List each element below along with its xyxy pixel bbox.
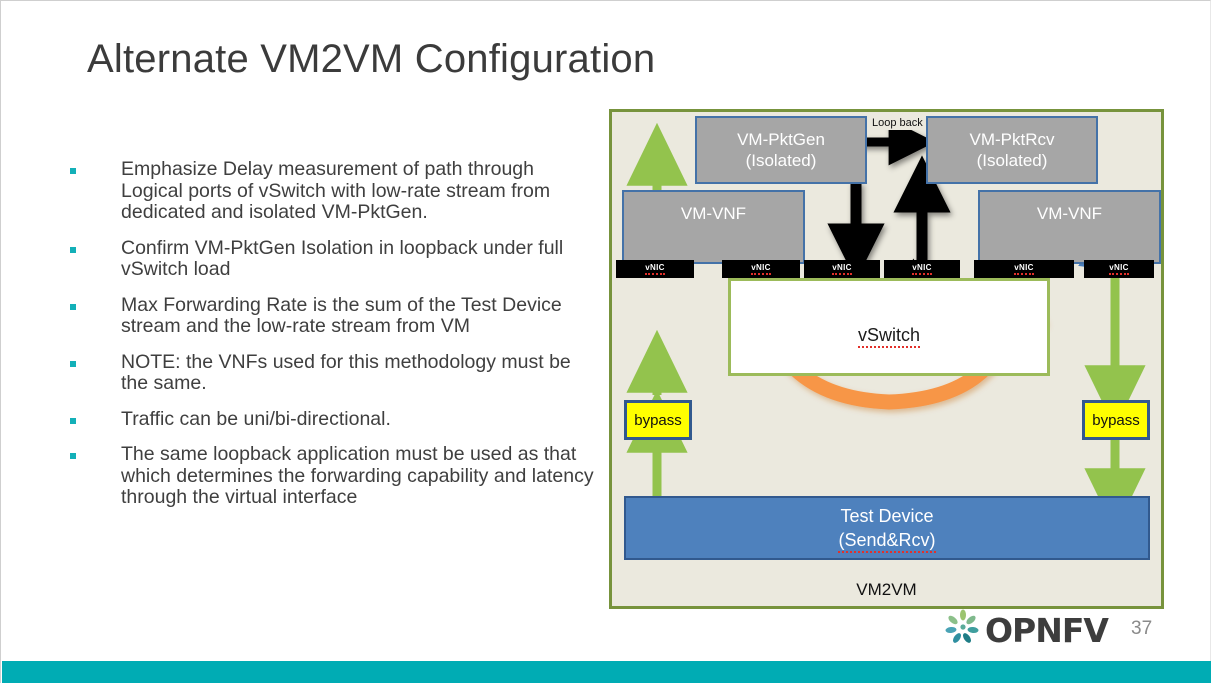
list-item: The same loopback application must be us… — [63, 444, 598, 509]
loop-back-label: Loop back — [870, 116, 925, 130]
vm-pktgen-name: VM-PktGen — [737, 129, 825, 150]
vm-vnf-left-name: VM-VNF — [681, 203, 746, 224]
bullet-text: Max Forwarding Rate is the sum of the Te… — [121, 294, 562, 338]
vswitch-box: vSwitch — [728, 278, 1050, 376]
slide: Alternate VM2VM Configuration Emphasize … — [0, 0, 1211, 683]
bullet-text: The same loopback application must be us… — [121, 443, 594, 508]
vm-pktgen-sub: (Isolated) — [746, 150, 817, 171]
bullet-text: Confirm VM-PktGen Isolation in loopback … — [121, 237, 563, 281]
test-device-sub: (Send&Rcv) — [838, 528, 935, 552]
vnic-4: vNIC — [884, 260, 960, 278]
bullet-marker-icon — [70, 361, 76, 367]
list-item: Emphasize Delay measurement of path thro… — [63, 159, 598, 224]
vm2vm-container-label: VM2VM — [612, 580, 1161, 600]
bullet-marker-icon — [70, 453, 76, 459]
test-device-box: Test Device (Send&Rcv) — [624, 496, 1150, 560]
opnfv-wordmark: OPNFV — [985, 611, 1108, 650]
vm-pktrcv-name: VM-PktRcv — [970, 129, 1055, 150]
vm-vnf-right-name: VM-VNF — [1037, 203, 1102, 224]
bullet-list: Emphasize Delay measurement of path thro… — [63, 159, 598, 523]
list-item: Max Forwarding Rate is the sum of the Te… — [63, 295, 598, 338]
vnic-1: vNIC — [616, 260, 694, 278]
bullet-marker-icon — [70, 168, 76, 174]
vnic-6: vNIC — [1084, 260, 1154, 278]
vm-vnf-right-box: VM-VNF — [978, 190, 1161, 264]
opnfv-logo: OPNFV — [945, 609, 1115, 647]
list-item: NOTE: the VNFs used for this methodology… — [63, 352, 598, 395]
vm-pktrcv-sub: (Isolated) — [977, 150, 1048, 171]
opnfv-flower-icon — [945, 609, 981, 647]
vnic-3: vNIC — [804, 260, 880, 278]
bullet-text: NOTE: the VNFs used for this methodology… — [121, 351, 571, 395]
vm-pktgen-box: VM-PktGen (Isolated) — [695, 116, 867, 184]
bullet-marker-icon — [70, 304, 76, 310]
vnic-5: vNIC — [974, 260, 1074, 278]
vm2vm-diagram: VM-PktGen (Isolated) VM-PktRcv (Isolated… — [609, 109, 1164, 609]
page-title: Alternate VM2VM Configuration — [87, 37, 655, 82]
page-number: 37 — [1131, 618, 1152, 640]
bullet-marker-icon — [70, 247, 76, 253]
footer-accent-bar — [2, 661, 1211, 683]
bullet-text: Emphasize Delay measurement of path thro… — [121, 158, 550, 223]
list-item: Traffic can be uni/bi-directional. — [63, 409, 598, 431]
vm-vnf-left-box: VM-VNF — [622, 190, 805, 264]
vswitch-label: vSwitch — [731, 325, 1047, 346]
bullet-marker-icon — [70, 418, 76, 424]
bullet-text: Traffic can be uni/bi-directional. — [121, 408, 391, 430]
bypass-right-box: bypass — [1082, 400, 1150, 440]
bypass-left-box: bypass — [624, 400, 692, 440]
test-device-name: Test Device — [840, 504, 933, 528]
vnic-2: vNIC — [722, 260, 800, 278]
vm-pktrcv-box: VM-PktRcv (Isolated) — [926, 116, 1098, 184]
list-item: Confirm VM-PktGen Isolation in loopback … — [63, 238, 598, 281]
